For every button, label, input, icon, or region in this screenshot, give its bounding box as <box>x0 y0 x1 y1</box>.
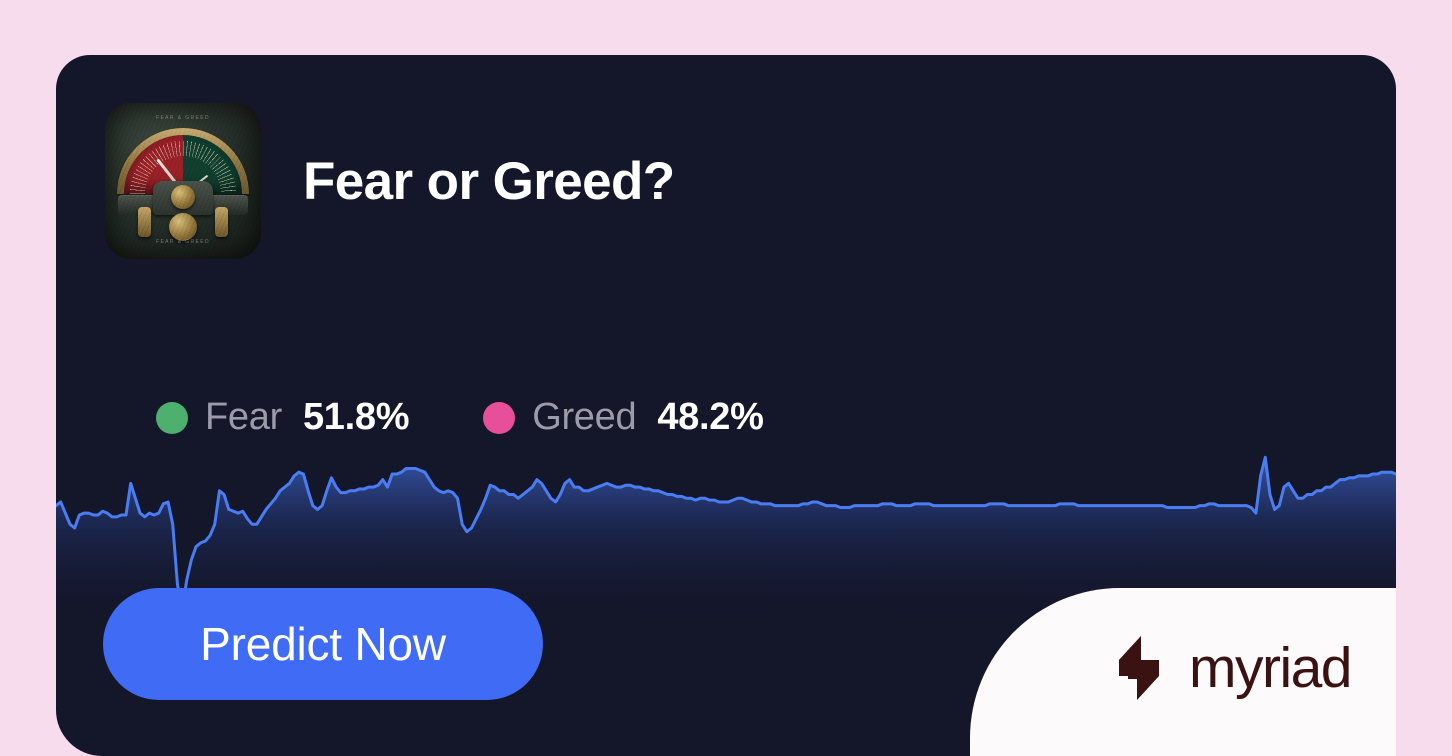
thumbnail-texture-overlay <box>105 103 261 259</box>
outcome-greed-value: 48.2% <box>657 396 763 439</box>
screenshot-root: FEAR & GREED FEAR & GREED Fear or Greed?… <box>0 0 1452 756</box>
outcome-greed-label: Greed <box>532 396 636 439</box>
outcome-fear-label: Fear <box>205 396 282 439</box>
pink-dot-icon <box>483 402 515 434</box>
predict-now-button[interactable]: Predict Now <box>103 588 543 700</box>
myriad-bolt-logo-icon <box>1111 635 1169 701</box>
outcome-fear[interactable]: Fear 51.8% <box>156 396 409 439</box>
outcome-greed[interactable]: Greed 48.2% <box>483 396 763 439</box>
green-dot-icon <box>156 402 188 434</box>
myriad-wordmark: myriad <box>1189 640 1351 697</box>
outcomes-row: Fear 51.8% Greed 48.2% <box>156 396 764 439</box>
page-title: Fear or Greed? <box>303 155 675 208</box>
card-header: FEAR & GREED FEAR & GREED Fear or Greed? <box>105 103 675 259</box>
fear-greed-gauge-thumbnail: FEAR & GREED FEAR & GREED <box>105 103 261 259</box>
outcome-fear-value: 51.8% <box>303 396 409 439</box>
